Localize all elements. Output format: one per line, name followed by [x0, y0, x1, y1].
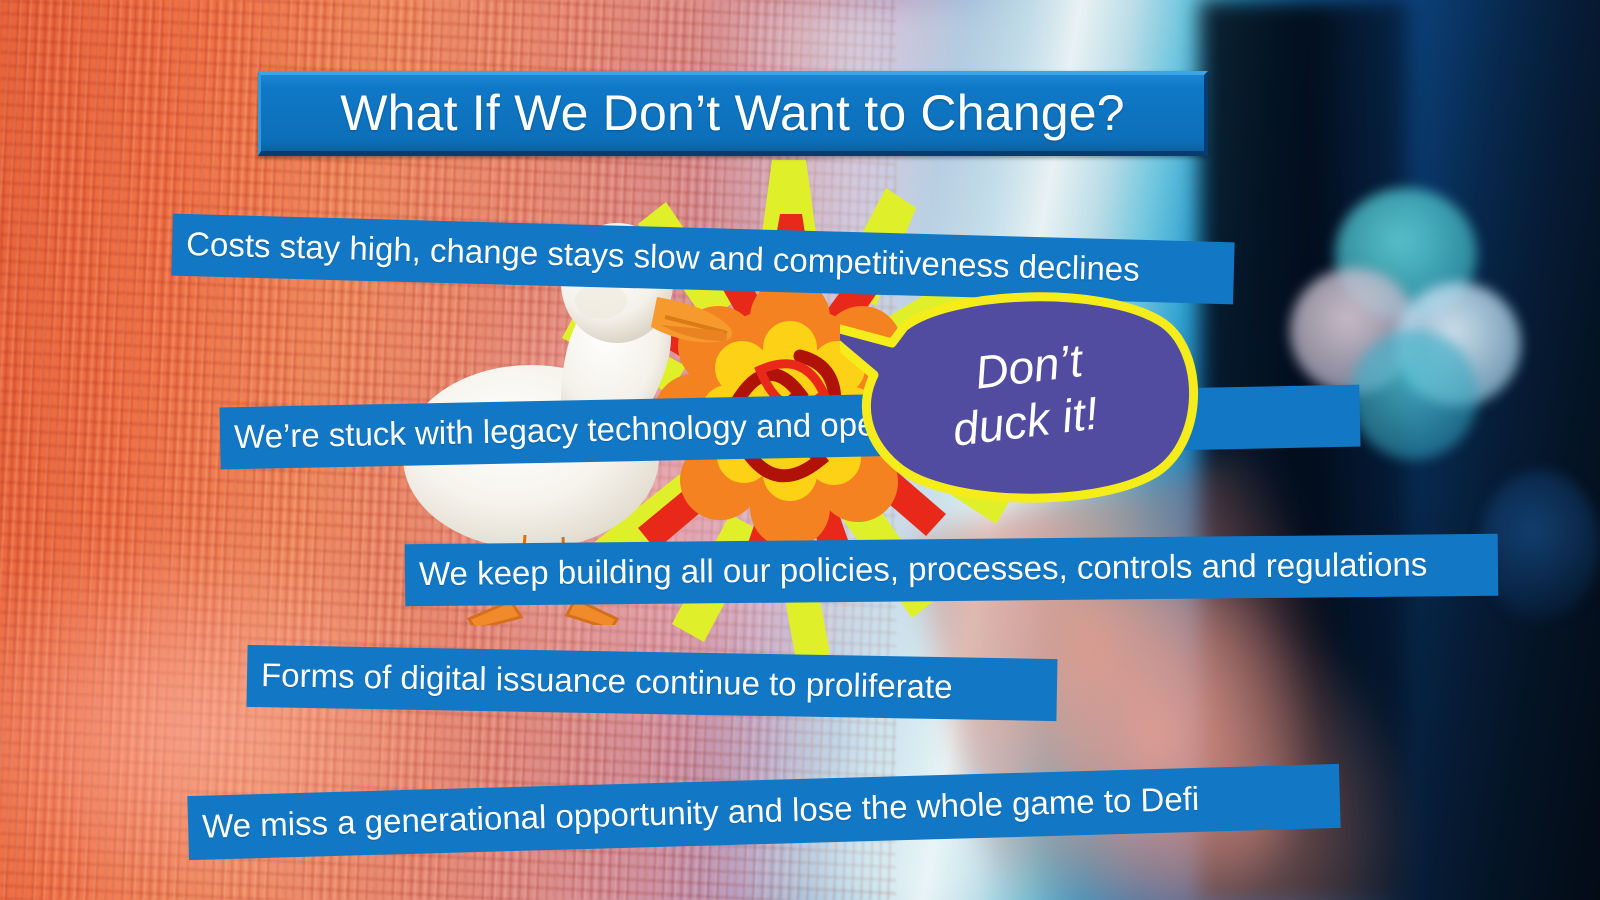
bokeh-circle-4 — [1350, 330, 1478, 460]
bullet-text: Forms of digital issuance continue to pr… — [261, 657, 953, 706]
bokeh-circle-5 — [1480, 470, 1600, 620]
speech-bubble-callout: Don’t duck it! — [840, 283, 1210, 505]
bullet-text: We keep building all our policies, proce… — [419, 546, 1428, 593]
background-finger — [1056, 594, 1312, 900]
page-title: What If We Don’t Want to Change? — [340, 84, 1125, 142]
speech-bubble-shape — [840, 283, 1210, 505]
bullet-banner-policies: We keep building all our policies, proce… — [405, 534, 1499, 606]
slide-title-banner: What If We Don’t Want to Change? — [258, 71, 1208, 156]
slide-canvas: What If We Don’t Want to Change? Costs s… — [0, 0, 1600, 900]
